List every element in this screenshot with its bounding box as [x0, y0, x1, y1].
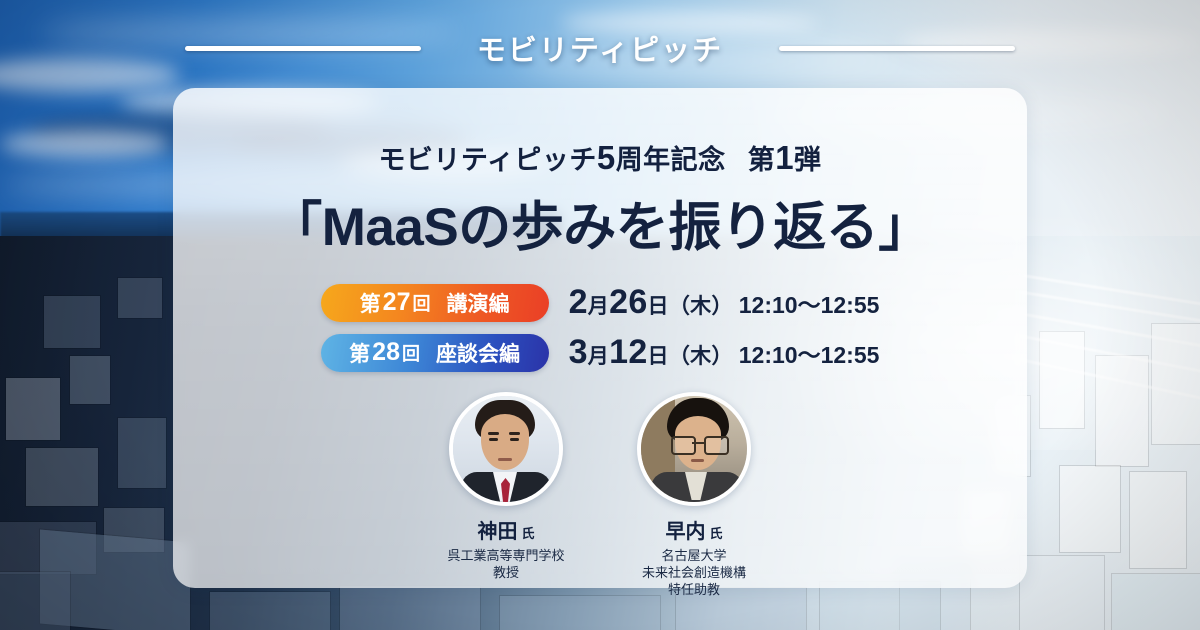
session-row: 第28回座談会編 3月12日（木）12:10～12:55 [321, 333, 880, 372]
badge-prefix: 第 [360, 288, 381, 318]
date-month-number: 2 [569, 283, 588, 321]
session-badge-28: 第28回座談会編 [321, 334, 549, 372]
avatar [449, 392, 563, 506]
speaker-name: 神田氏 [477, 515, 534, 544]
portrait-photo-icon [641, 396, 747, 502]
badge-label: 座談会編 [436, 338, 520, 368]
date-day-number: 12 [609, 333, 647, 371]
speaker-affiliation: 呉工業高等専門学校 教授 [447, 547, 564, 581]
kicker-anniversary-number: 5 [597, 139, 616, 176]
speaker-card: 早内氏 名古屋大学 未来社会創造機構 特任助教 [619, 392, 769, 598]
kicker-volume-prefix: 第 [748, 145, 776, 175]
date-month-unit: 月 [588, 345, 609, 368]
speaker-name-suffix: 氏 [521, 526, 534, 541]
header-rule-right-icon [779, 46, 1015, 51]
event-kicker: モビリティピッチ5周年記念第1弾 [378, 138, 821, 177]
session-row: 第27回講演編 2月26日（木）12:10～12:55 [321, 283, 880, 322]
session-list: 第27回講演編 2月26日（木）12:10～12:55 第28回座談会編 3月1… [321, 283, 880, 372]
event-title: 「MaaSの歩みを振り返る」 [269, 185, 930, 261]
date-weekday: （木） [669, 345, 733, 368]
date-day-unit: 日 [648, 295, 669, 318]
speaker-list: 神田氏 呉工業高等専門学校 教授 [431, 392, 769, 598]
speaker-affiliation: 名古屋大学 未来社会創造機構 特任助教 [642, 547, 746, 598]
session-date-28: 3月12日（木）12:10～12:55 [569, 333, 880, 372]
portrait-photo-icon [453, 396, 559, 502]
header-rule-left-icon [185, 46, 421, 51]
badge-prefix: 第 [349, 338, 370, 368]
promo-banner: モビリティピッチ モビリティピッチ5周年記念第1弾 「MaaSの歩みを振り返る」… [0, 0, 1200, 630]
speaker-card: 神田氏 呉工業高等専門学校 教授 [431, 392, 581, 598]
header-title: モビリティピッチ [477, 27, 723, 69]
content-panel: モビリティピッチ5周年記念第1弾 「MaaSの歩みを振り返る」 第27回講演編 … [173, 88, 1027, 588]
date-weekday: （木） [669, 295, 733, 318]
session-time: 12:10～12:55 [739, 342, 880, 368]
kicker-prefix: モビリティピッチ [378, 145, 596, 175]
kicker-volume-number: 1 [775, 139, 794, 176]
speaker-name-text: 神田 [477, 521, 517, 543]
kicker-middle: 周年記念 [616, 145, 726, 175]
speaker-name-suffix: 氏 [709, 526, 722, 541]
session-badge-27: 第27回講演編 [321, 284, 549, 322]
date-day-unit: 日 [648, 345, 669, 368]
date-month-number: 3 [569, 333, 588, 371]
avatar [637, 392, 751, 506]
date-day-number: 26 [609, 283, 647, 321]
speaker-name: 早内氏 [665, 515, 722, 544]
badge-number: 28 [370, 338, 402, 367]
badge-kai: 回 [412, 290, 430, 316]
session-date-27: 2月26日（木）12:10～12:55 [569, 283, 880, 322]
kicker-volume-suffix: 弾 [794, 145, 822, 175]
badge-kai: 回 [402, 340, 420, 366]
date-month-unit: 月 [588, 295, 609, 318]
speaker-name-text: 早内 [665, 521, 705, 543]
banner-header: モビリティピッチ [0, 26, 1200, 70]
badge-label: 講演編 [446, 288, 509, 318]
session-time: 12:10～12:55 [739, 292, 880, 318]
badge-number: 27 [381, 288, 413, 317]
